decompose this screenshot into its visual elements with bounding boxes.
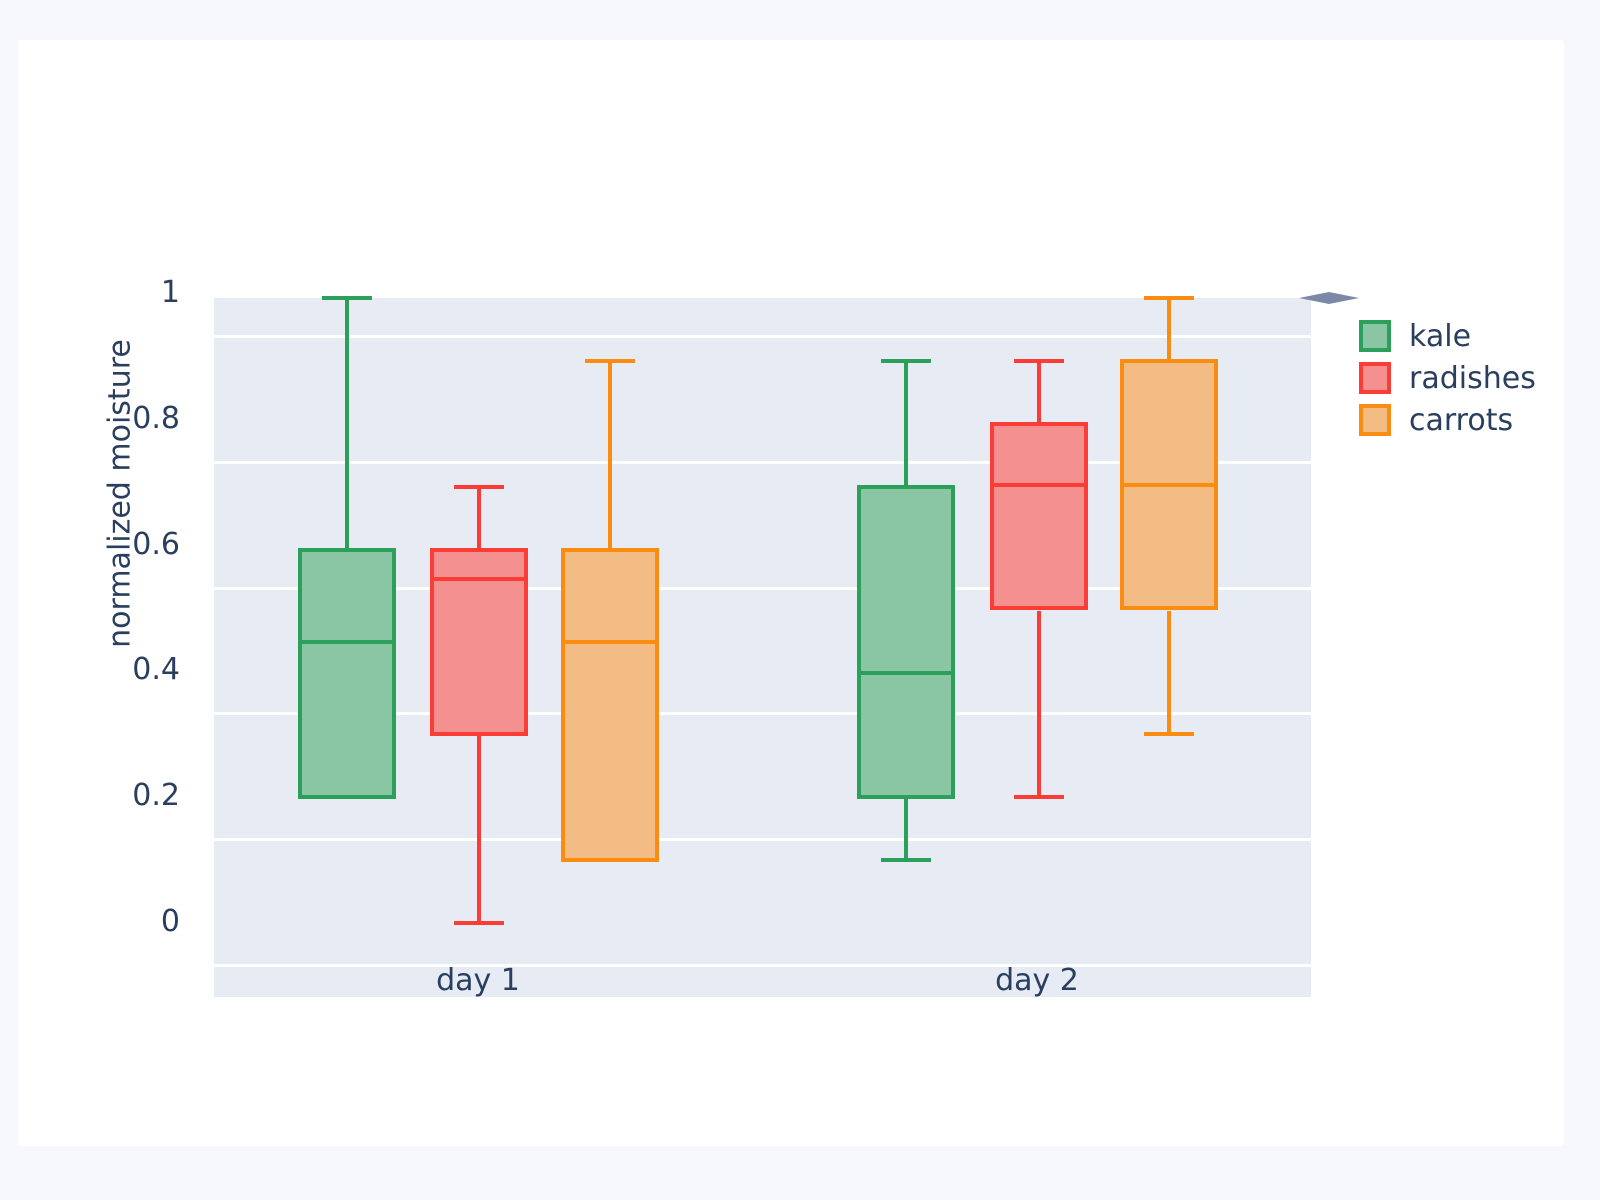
x-axis-tick-label: day 2	[907, 963, 1167, 998]
y-axis-tick-label: 1	[0, 275, 180, 310]
lower-whisker-cap	[454, 921, 504, 925]
upper-whisker-line	[1167, 296, 1171, 359]
legend-label-radishes: radishes	[1409, 361, 1536, 396]
box-rect[interactable]	[430, 548, 528, 737]
gridline	[214, 838, 1311, 841]
x-axis-tick-label: day 1	[348, 963, 608, 998]
legend-item-radishes[interactable]: radishes	[1359, 357, 1569, 399]
median-line	[561, 640, 659, 644]
box-rect[interactable]	[990, 422, 1088, 611]
y-axis-tick-label: 0.6	[0, 527, 180, 562]
upper-whisker-line	[608, 359, 612, 548]
diamond-marker-icon	[1299, 288, 1359, 308]
gridline	[214, 335, 1311, 338]
legend-item-kale[interactable]: kale	[1359, 315, 1569, 357]
median-line	[990, 483, 1088, 487]
upper-whisker-line	[477, 485, 481, 548]
legend-swatch-radishes	[1359, 362, 1391, 394]
upper-whisker-cap	[1014, 359, 1064, 363]
chart-card: 10.80.60.40.20 normalized moisture day 1…	[18, 40, 1564, 1146]
upper-whisker-cap	[322, 296, 372, 300]
box-rect[interactable]	[857, 485, 955, 800]
legend-label-kale: kale	[1409, 319, 1471, 354]
lower-whisker-line	[1167, 611, 1171, 737]
y-axis-tick-label: 0.2	[0, 778, 180, 813]
lower-whisker-line	[904, 799, 908, 862]
lower-whisker-cap	[1014, 795, 1064, 799]
upper-whisker-line	[1037, 359, 1041, 422]
legend: kale radishes carrots	[1359, 315, 1569, 441]
upper-whisker-cap	[585, 359, 635, 363]
legend-swatch-kale	[1359, 320, 1391, 352]
chart-page: 10.80.60.40.20 normalized moisture day 1…	[0, 0, 1600, 1200]
upper-whisker-line	[345, 296, 349, 548]
median-line	[1120, 483, 1218, 487]
lower-whisker-line	[1037, 611, 1041, 800]
legend-swatch-carrots	[1359, 404, 1391, 436]
legend-item-carrots[interactable]: carrots	[1359, 399, 1569, 441]
upper-whisker-line	[904, 359, 908, 485]
y-axis-tick-label: 0.8	[0, 401, 180, 436]
y-axis-tick-label: 0.4	[0, 652, 180, 687]
lower-whisker-cap	[1144, 732, 1194, 736]
y-axis-title: normalized moisture	[103, 324, 138, 664]
upper-whisker-cap	[1144, 296, 1194, 300]
box-carrots-day2[interactable]	[0, 0, 1, 1]
y-axis-tick-label: 0	[0, 904, 180, 939]
median-line	[857, 671, 955, 675]
legend-label-carrots: carrots	[1409, 403, 1513, 438]
box-rect[interactable]	[298, 548, 396, 800]
upper-whisker-cap	[454, 485, 504, 489]
lower-whisker-cap	[881, 858, 931, 862]
lower-whisker-line	[477, 736, 481, 925]
upper-whisker-cap	[881, 359, 931, 363]
box-rect[interactable]	[561, 548, 659, 863]
median-line	[430, 577, 528, 581]
median-line	[298, 640, 396, 644]
